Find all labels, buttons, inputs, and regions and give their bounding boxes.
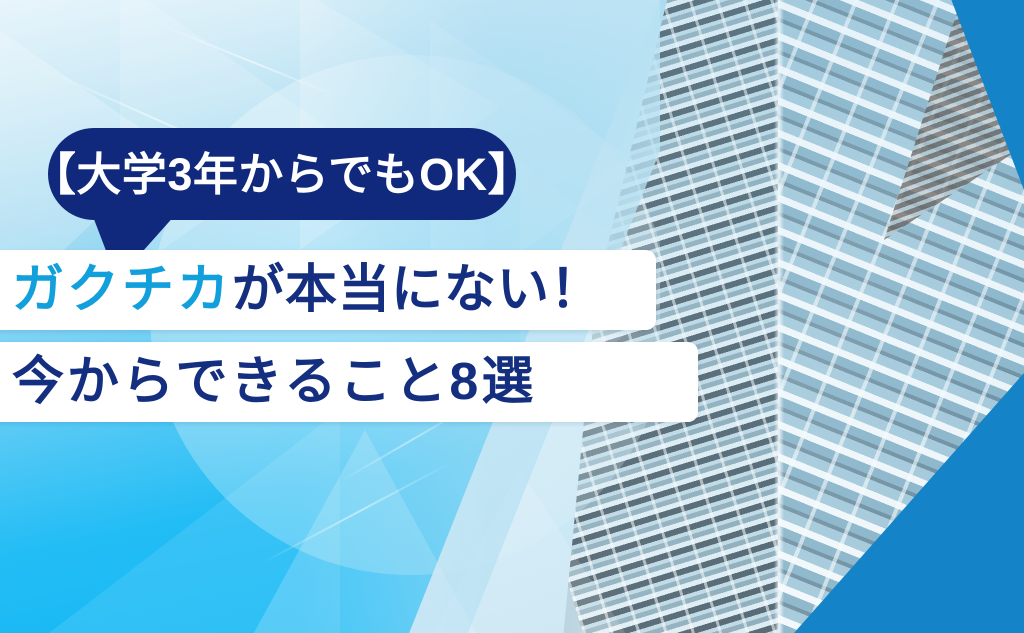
eyebrow-badge-label: 【大学3年からでもOK】: [31, 152, 533, 197]
headline-line-2-box: ガクチカが本当にない！: [0, 250, 656, 330]
headline-line-3-box: 今からできること8選: [0, 342, 698, 422]
thumbnail-canvas: 【大学3年からでもOK】 ガクチカが本当にない！ 今からできること8選: [0, 0, 1024, 633]
eyebrow-badge: 【大学3年からでもOK】: [48, 128, 516, 220]
headline-line-2-rest: が本当にない！: [232, 261, 603, 319]
building-corner-edge: [774, 0, 784, 633]
headline-accent-term: ガクチカ: [12, 261, 232, 319]
headline-line-2: ガクチカが本当にない！: [12, 264, 603, 316]
headline-line-3: 今からできること8選: [12, 356, 536, 408]
